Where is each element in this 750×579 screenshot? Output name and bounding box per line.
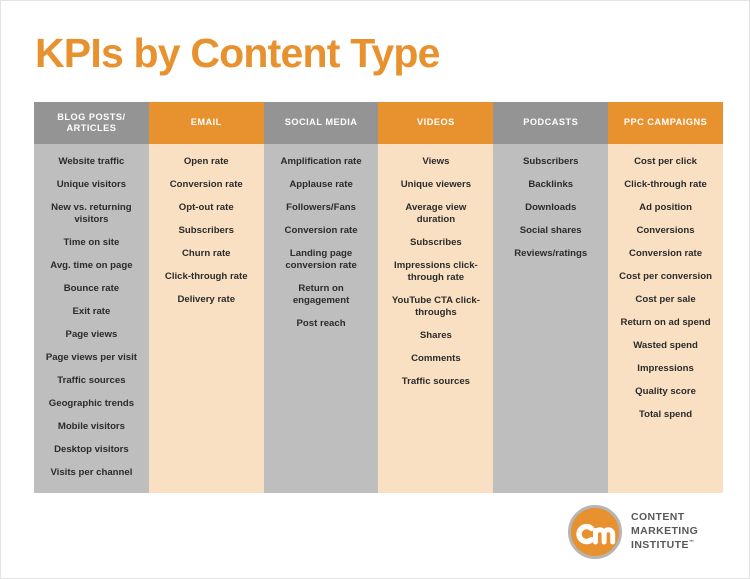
kpi-item: Return on engagement [268,283,375,307]
kpi-item: Subscribers [497,156,604,168]
cmi-logo-trademark: ™ [689,539,694,545]
kpi-item: Reviews/ratings [497,248,604,260]
kpi-item: Open rate [153,156,260,168]
kpi-column: SOCIAL MEDIAAmplification rateApplause r… [264,102,379,493]
kpi-item: Churn rate [153,248,260,260]
cmi-logo-line-1: CONTENT [631,511,698,525]
column-body: Cost per clickClick-through rateAd posit… [608,144,723,493]
kpi-item: Cost per sale [612,294,719,306]
kpi-item: Ad position [612,202,719,214]
column-body: ViewsUnique viewersAverage view duration… [378,144,493,493]
kpi-item: Applause rate [268,179,375,191]
kpi-item: Delivery rate [153,294,260,306]
cmi-logo-wordmark: CONTENT MARKETING INSTITUTE™ [631,511,698,553]
kpi-item: Click-through rate [153,271,260,283]
kpi-item: Conversion rate [153,179,260,191]
kpi-item: Unique viewers [382,179,489,191]
kpi-item: Return on ad spend [612,317,719,329]
cmi-logo-line-3: INSTITUTE™ [631,539,698,553]
kpi-column: PPC CAMPAIGNSCost per clickClick-through… [608,102,723,493]
kpi-item: Website traffic [38,156,145,168]
kpi-item: Downloads [497,202,604,214]
cmi-logo: CONTENT MARKETING INSTITUTE™ [568,501,728,563]
kpi-item: Page views per visit [38,352,145,364]
kpi-item: Social shares [497,225,604,237]
kpi-item: Average view duration [382,202,489,226]
kpi-item: Click-through rate [612,179,719,191]
kpi-column: PODCASTSSubscribersBacklinksDownloadsSoc… [493,102,608,493]
column-header[interactable]: VIDEOS [378,102,493,144]
column-header[interactable]: PODCASTS [493,102,608,144]
kpi-item: Post reach [268,318,375,330]
kpi-item: Conversions [612,225,719,237]
column-header[interactable]: BLOG POSTS/ ARTICLES [34,102,149,144]
cmi-logo-line-2: MARKETING [631,525,698,539]
kpi-item: Total spend [612,409,719,421]
kpi-item: Conversion rate [612,248,719,260]
kpi-item: Cost per conversion [612,271,719,283]
kpi-item: Avg. time on page [38,260,145,272]
column-body: Website trafficUnique visitorsNew vs. re… [34,144,149,493]
kpi-item: Page views [38,329,145,341]
kpi-item: Shares [382,330,489,342]
kpi-item: Subscribes [382,237,489,249]
kpi-item: Traffic sources [38,375,145,387]
kpi-item: Desktop visitors [38,444,145,456]
column-header[interactable]: SOCIAL MEDIA [264,102,379,144]
kpi-column: VIDEOSViewsUnique viewersAverage view du… [378,102,493,493]
kpi-item: Amplification rate [268,156,375,168]
cmi-logo-mark-icon [568,505,622,559]
kpi-item: Opt-out rate [153,202,260,214]
kpi-item: Time on site [38,237,145,249]
kpi-item: Traffic sources [382,376,489,388]
kpi-item: Comments [382,353,489,365]
kpi-item: Landing page conversion rate [268,248,375,272]
kpi-item: Unique visitors [38,179,145,191]
kpi-item: Bounce rate [38,283,145,295]
column-header[interactable]: PPC CAMPAIGNS [608,102,723,144]
kpi-item: Conversion rate [268,225,375,237]
kpi-item: Subscribers [153,225,260,237]
kpi-item: Impressions [612,363,719,375]
kpi-item: Mobile visitors [38,421,145,433]
kpi-item: Exit rate [38,306,145,318]
kpi-item: Wasted spend [612,340,719,352]
kpi-column: EMAILOpen rateConversion rateOpt-out rat… [149,102,264,493]
kpi-item: New vs. returning visitors [38,202,145,226]
kpi-item: Backlinks [497,179,604,191]
kpi-item: Views [382,156,489,168]
cmi-logo-line-3-text: INSTITUTE [631,539,689,551]
kpi-item: Quality score [612,386,719,398]
kpi-item: Followers/Fans [268,202,375,214]
column-body: Open rateConversion rateOpt-out rateSubs… [149,144,264,493]
kpi-item: YouTube CTA click-throughs [382,295,489,319]
page-title: KPIs by Content Type [35,31,440,76]
kpi-item: Impressions click-through rate [382,260,489,284]
column-header[interactable]: EMAIL [149,102,264,144]
kpi-item: Geographic trends [38,398,145,410]
column-body: SubscribersBacklinksDownloadsSocial shar… [493,144,608,493]
column-body: Amplification rateApplause rateFollowers… [264,144,379,493]
kpi-table: BLOG POSTS/ ARTICLESWebsite trafficUniqu… [34,102,723,493]
kpi-column: BLOG POSTS/ ARTICLESWebsite trafficUniqu… [34,102,149,493]
kpi-item: Cost per click [612,156,719,168]
kpi-item: Visits per channel [38,467,145,479]
